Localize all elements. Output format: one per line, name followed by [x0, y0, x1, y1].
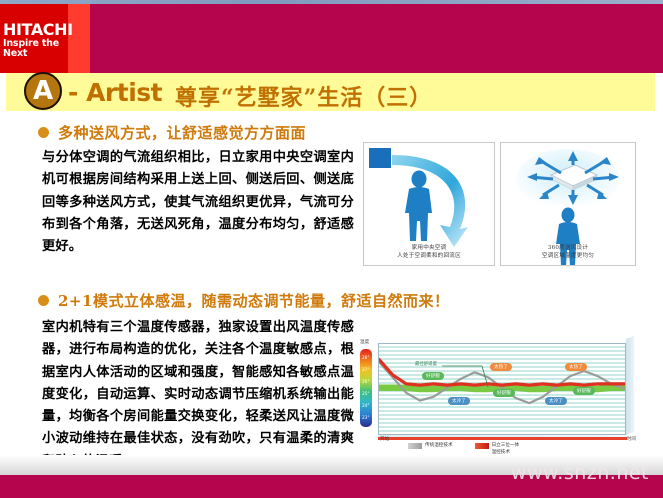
chart-base-line	[378, 437, 627, 440]
annotation-best-comfort: 最佳舒适度	[415, 361, 437, 367]
chart-3d-side-face	[626, 336, 634, 435]
bullet-icon	[38, 295, 49, 306]
chart-x-origin-label: 开始	[380, 436, 389, 442]
artist-badge-icon: A	[24, 72, 62, 110]
figure-2-caption: 360度送风设计 空调区域温度更均匀	[501, 244, 635, 260]
temp-tick-2: 26°	[362, 379, 369, 384]
figure-2-caption-line1: 360度送风设计	[501, 244, 635, 252]
bubble-too-hot-1: 太热了	[490, 363, 512, 371]
legend-label-hitachi-line2: 温控技术	[492, 450, 510, 455]
legend-swatch-red	[475, 443, 489, 449]
chart-y-axis-label: 温度	[360, 339, 369, 345]
legend-swatch-gray	[408, 443, 422, 449]
temp-tick-3: 25°	[362, 391, 369, 396]
brand-tagline: Inspire the Next	[3, 39, 67, 58]
bubble-too-cold-2: 太冷了	[545, 397, 567, 405]
slide-header: HITACHI Inspire the Next	[0, 4, 663, 73]
hitachi-logo: HITACHI Inspire the Next	[3, 22, 67, 59]
figure-central-ac-airflow: 家用中央空调 人处于空调柔和的回流区	[363, 142, 495, 266]
temp-tick-0: 28°	[362, 355, 369, 360]
temp-tick-4: 24°	[362, 403, 369, 408]
figure-1-caption-line1: 家用中央空调	[364, 244, 494, 252]
figure-1-caption: 家用中央空调 人处于空调柔和的回流区	[364, 244, 494, 260]
bubble-comfortable-3: 好舒服	[573, 387, 595, 395]
legend-item-traditional: 传统温控技术	[408, 443, 453, 450]
slide-canvas: HITACHI Inspire the Next A - Artist 尊享“艺…	[0, 0, 663, 498]
legend-label-traditional: 传统温控技术	[425, 443, 453, 450]
site-watermark: www.shzh.net	[511, 462, 649, 484]
bubble-too-cold-1: 太冷了	[448, 397, 470, 405]
figure-360-airflow: 360度送风设计 空调区域温度更均匀	[500, 142, 636, 266]
bubble-comfortable-2: 好舒服	[493, 389, 515, 397]
figure-1-caption-line2: 人处于空调柔和的回流区	[364, 252, 494, 260]
temp-tick-1: 27°	[362, 367, 369, 372]
section-heading-1: 多种送风方式，让舒适感觉方方面面	[38, 122, 306, 143]
bubble-comfortable-1: 好舒服	[422, 372, 444, 380]
section-heading-2: 2+1模式立体感温，随需动态调节能量，舒适自然而来！	[38, 290, 449, 311]
person-silhouette	[405, 171, 432, 242]
page-title-en: - Artist	[68, 78, 162, 107]
bullet-icon	[38, 127, 49, 138]
section-2-body: 室内机特有三个温度传感器，独家设置出风温度传感器，进行布局构造的优化，关注各个温…	[42, 317, 354, 473]
temperature-comfort-chart: 温度 28° 27° 26° 25° 24° 23° 最佳舒适度 好舒服 太冷了…	[360, 325, 650, 460]
page-title-cn: 尊享“艺墅家”生活（三）	[175, 80, 432, 112]
bubble-too-hot-2: 太热了	[565, 363, 587, 371]
figure-2-caption-line2: 空调区域温度更均匀	[501, 252, 635, 260]
chart-x-axis-label: 时间	[627, 436, 636, 442]
brand-name: HITACHI	[3, 22, 67, 38]
legend-label-hitachi-line1: 日立三位一体	[492, 443, 520, 448]
temperature-gradient-bar: 28° 27° 26° 25° 24° 23°	[360, 349, 372, 427]
section-1-body: 与分体空调的气流组织相比，日立家用中央空调室内机可根据房间结构采用上送上回、侧送…	[42, 147, 354, 258]
section-1-title: 多种送风方式，让舒适感觉方方面面	[58, 122, 306, 143]
section-2-title: 2+1模式立体感温，随需动态调节能量，舒适自然而来！	[58, 290, 449, 311]
temp-tick-5: 23°	[362, 415, 369, 420]
